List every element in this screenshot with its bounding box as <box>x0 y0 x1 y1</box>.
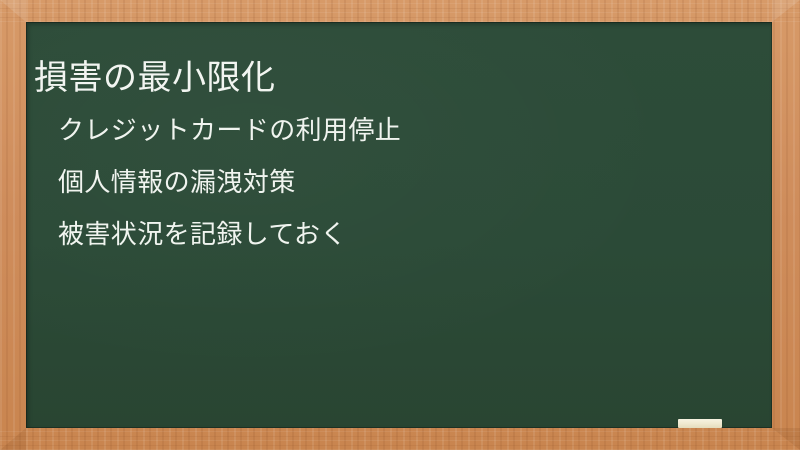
blackboard-slide: 損害の最小限化 クレジットカードの利用停止 個人情報の漏洩対策 被害状況を記録し… <box>0 0 800 450</box>
chalk-stick-icon <box>678 419 722 428</box>
chalkboard-surface: 損害の最小限化 クレジットカードの利用停止 個人情報の漏洩対策 被害状況を記録し… <box>26 22 772 428</box>
bullet-item: 被害状況を記録しておく <box>58 208 762 260</box>
slide-title: 損害の最小限化 <box>34 58 276 98</box>
bullet-item: クレジットカードの利用停止 <box>58 104 762 156</box>
bullet-list: クレジットカードの利用停止 個人情報の漏洩対策 被害状況を記録しておく <box>58 104 762 260</box>
bullet-item: 個人情報の漏洩対策 <box>58 156 762 208</box>
